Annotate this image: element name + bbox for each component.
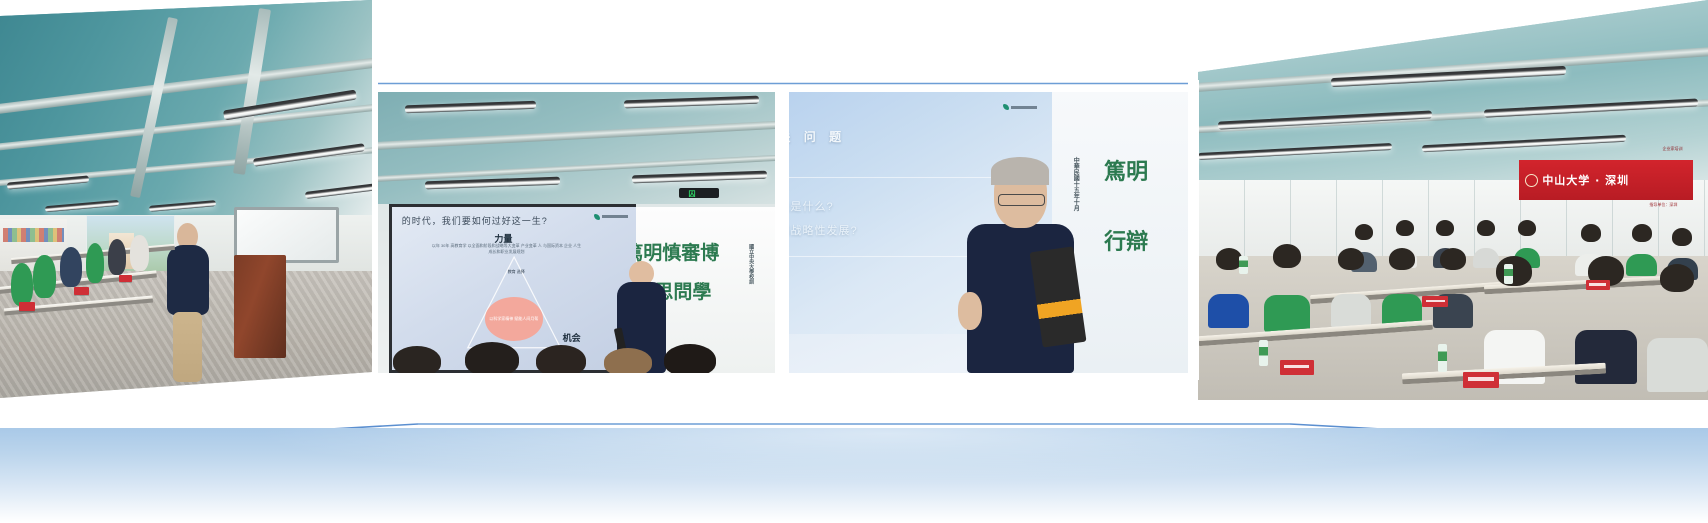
panel-gutter-right (1188, 80, 1199, 380)
banner-title: 中山大学 · 深圳 (1542, 172, 1629, 188)
gallery-slide-speaker-closeup[interactable]: 关 问 题 量是什么? 到战略性发展? 篤明 行辯 中華民國十五年十月 (789, 92, 1188, 373)
gallery-slide-lecture-slide-presentation[interactable]: 囚 篤明慎審博 辯思問學 國立中央大學校訓 中華民國 的时代，我们要如何过好这一… (377, 92, 775, 373)
projected-slide-title: 关 问 题 (789, 128, 846, 145)
water-bottle (1438, 344, 1447, 372)
center-circle-label: 以科学家精神 赋能人间月帮 (489, 316, 538, 322)
calligraphy-line-2: 行辯 (1104, 224, 1148, 256)
photo-speaker-closeup: 关 问 题 量是什么? 到战略性发展? 篤明 行辯 中華民國十五年十月 (789, 92, 1188, 373)
glasses-icon (998, 194, 1045, 207)
slide-logo (594, 214, 628, 220)
photo-lecture-slide-presentation: 囚 篤明慎審博 辯思問學 國立中央大學校訓 中華民國 的时代，我们要如何过好这一… (377, 92, 775, 373)
panel-gutter-center (775, 88, 789, 378)
calligraphy-line-1: 篤明 (1104, 154, 1148, 186)
name-card (1463, 372, 1499, 388)
audience-heads (377, 322, 775, 373)
podium (234, 255, 286, 358)
gallery-stage: 囚 篤明慎審博 辯思問學 國立中央大學校訓 中華民國 的时代，我们要如何过好这一… (0, 0, 1708, 523)
bookshelf (0, 219, 67, 271)
slide-center-top-label: 教育 选择 (489, 269, 543, 275)
photo-audience-seated: 中山大学 · 深圳 企业家培训 指导单位：深圳 (1198, 0, 1708, 400)
projected-bullet-2: 到战略性发展? (789, 222, 858, 238)
exit-sign: 囚 (679, 188, 719, 198)
slide-headline: 的时代，我们要如何过好这一生? (402, 214, 612, 227)
banner-subtitle-left: 企业家培训 (1663, 146, 1683, 152)
university-banner: 中山大学 · 深圳 (1519, 160, 1692, 200)
stage-floor-sheen (0, 428, 1708, 523)
water-bottle (1259, 340, 1268, 366)
name-card (1586, 280, 1610, 290)
university-seal-icon (1525, 174, 1538, 187)
calligraphy-column-right: 國立中央大學校訓 (748, 244, 755, 284)
banner-subtitle-right: 指导单位：深圳 (1649, 202, 1677, 208)
photo-classroom-wide-view (0, 0, 372, 398)
gallery-slide-audience-seated[interactable]: 中山大学 · 深圳 企业家培训 指导单位：深圳 (1198, 0, 1708, 400)
projected-bullet-1: 量是什么? (789, 198, 834, 214)
name-card (1280, 360, 1314, 375)
name-card (1422, 296, 1448, 307)
panel-gutter-left (372, 0, 378, 400)
gallery-slide-classroom-wide-view[interactable] (0, 0, 372, 398)
projected-slide-logo (1003, 104, 1037, 110)
water-bottle (1239, 256, 1248, 274)
water-bottle (1504, 264, 1513, 284)
